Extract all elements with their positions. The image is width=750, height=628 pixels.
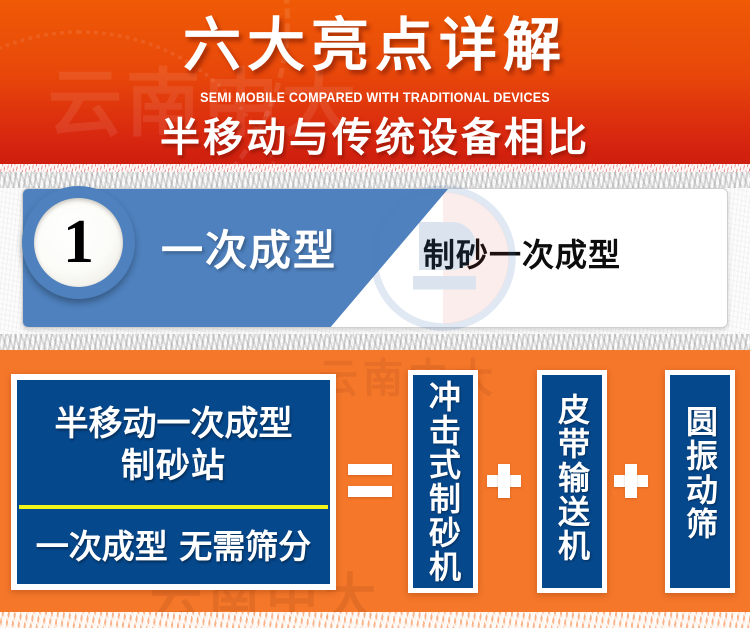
page-subtitle-english: SEMI MOBILE COMPARED WITH TRADITIONAL DE… xyxy=(26,89,724,107)
section-one-band: 一次成型 制砂一次成型 1 xyxy=(0,172,750,350)
component-box-2: 皮带输送机 xyxy=(537,370,607,593)
plus-bar-vertical-1 xyxy=(498,464,510,498)
component-box-1: 冲击式制砂机 xyxy=(408,370,478,593)
component-box-1-inner: 冲击式制砂机 xyxy=(413,375,473,588)
main-product-line-3: 一次成型 无需筛分 xyxy=(36,526,312,568)
component-box-2-inner: 皮带输送机 xyxy=(542,375,602,588)
plus-sign-icon-1 xyxy=(487,464,521,498)
page-subtitle-chinese: 半移动与传统设备相比 xyxy=(0,112,750,164)
component-box-3: 圆振动筛 xyxy=(665,370,735,593)
main-product-line-2: 制砂站 xyxy=(121,445,226,487)
section-one-number-badge: 1 xyxy=(22,186,135,299)
paper-texture-bottom-strip xyxy=(0,334,750,350)
main-product-line-1: 半移动一次成型 xyxy=(55,403,293,445)
page-title: 六大亮点详解 xyxy=(0,12,750,78)
main-product-box-inner: 半移动一次成型 制砂站 一次成型 无需筛分 xyxy=(17,380,330,584)
equals-bar-top xyxy=(348,464,392,475)
header-banner: 云南中大 六大亮点详解 SEMI MOBILE COMPARED WITH TR… xyxy=(0,0,750,172)
paper-texture-top-strip xyxy=(0,172,750,188)
equals-sign-icon xyxy=(348,464,392,498)
main-product-box: 半移动一次成型 制砂站 一次成型 无需筛分 xyxy=(11,374,336,590)
section-one-number: 1 xyxy=(63,211,94,273)
section-one-headline: 制砂一次成型 xyxy=(423,233,621,277)
number-badge-inner: 1 xyxy=(34,198,123,287)
component-box-3-inner: 圆振动筛 xyxy=(670,375,730,588)
plus-bar-vertical-2 xyxy=(625,464,637,498)
plus-sign-icon-2 xyxy=(614,464,648,498)
section-one-banner-label: 一次成型 xyxy=(161,224,337,278)
equals-bar-bottom xyxy=(348,486,392,497)
main-product-title-group: 半移动一次成型 制砂站 xyxy=(17,380,330,505)
component-label-1: 冲击式制砂机 xyxy=(425,380,461,584)
main-product-feature-group: 一次成型 无需筛分 xyxy=(17,509,330,584)
component-label-3: 圆振动筛 xyxy=(682,405,718,541)
component-label-2: 皮带输送机 xyxy=(554,393,590,563)
poster-root: 云南中大 六大亮点详解 SEMI MOBILE COMPARED WITH TR… xyxy=(0,0,750,628)
